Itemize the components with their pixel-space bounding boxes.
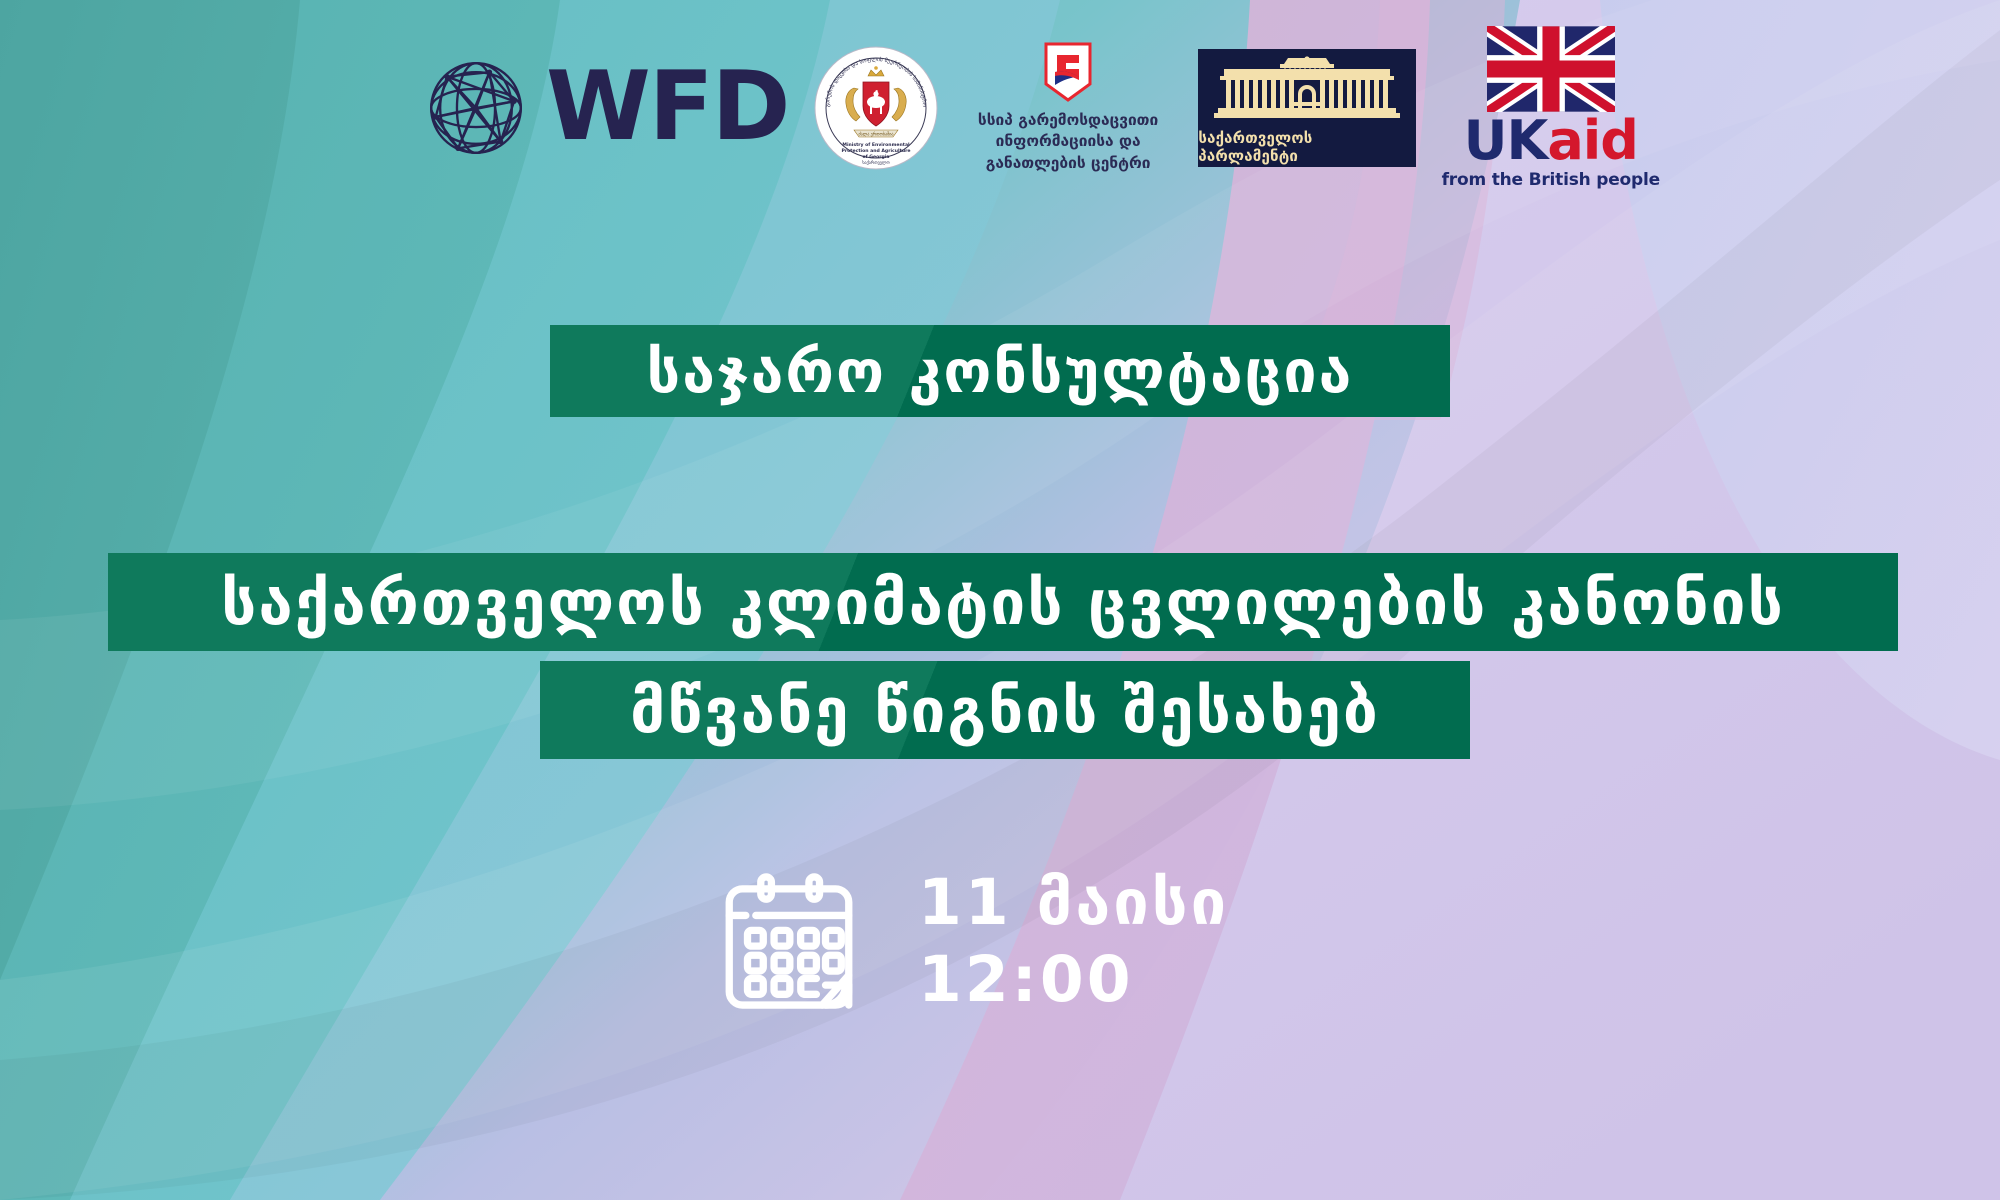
poster-canvas: WFD გარემოს დაცვისა და სოფლის მეურნეობის… [0, 0, 2000, 1200]
svg-text:Ministry of Environmental: Ministry of Environmental [842, 142, 910, 148]
union-jack-flag-icon [1487, 26, 1615, 112]
logo-parliament: საქართველოს პარლამენტი [1198, 49, 1416, 167]
calendar-icon [706, 858, 872, 1026]
partner-logo-row: WFD გარემოს დაცვისა და სოფლის მეურნეობის… [420, 30, 1660, 185]
wfd-wordmark: WFD [546, 60, 789, 155]
ukaid-aid: aid [1547, 109, 1638, 172]
kicker-text: საჯარო კონსულტაცია [647, 337, 1354, 406]
title-banner-line1: საქართველოს კლიმატის ცვლილების კანონის [108, 553, 1898, 651]
svg-text:საქართველო: საქართველო [862, 160, 890, 165]
event-datetime-block: 11 მაისი 12:00 [706, 858, 1229, 1026]
parliament-caption: საქართველოს პარლამენტი [1198, 129, 1416, 165]
book-shield-icon [1042, 41, 1094, 103]
logo-ministry-seal: გარემოს დაცვისა და სოფლის მეურნეობის სამ… [814, 46, 938, 170]
georgia-coat-of-arms-seal-icon: გარემოს დაცვისა და სოფლის მეურნეობის სამ… [814, 46, 938, 170]
title-text-line1: საქართველოს კლიმატის ცვლილების კანონის [221, 566, 1785, 639]
ukaid-wordmark: UKaid [1464, 114, 1638, 168]
eiec-line-1: სსიპ გარემოსდაცვითი [978, 110, 1158, 131]
eiec-line-3: განათლების ცენტრი [978, 153, 1158, 174]
logo-wfd: WFD [420, 52, 789, 164]
event-datetime-text: 11 მაისი 12:00 [918, 865, 1229, 1019]
globe-network-icon [420, 52, 532, 164]
eiec-caption: სსიპ გარემოსდაცვითი ინფორმაციისა და განა… [978, 110, 1158, 174]
event-date: 11 მაისი [918, 865, 1229, 942]
event-time: 12:00 [918, 942, 1229, 1019]
kicker-banner: საჯარო კონსულტაცია [550, 325, 1450, 417]
logo-eiec: სსიპ გარემოსდაცვითი ინფორმაციისა და განა… [963, 41, 1173, 174]
ukaid-tagline: from the British people [1442, 170, 1660, 190]
parliament-building-icon [1214, 50, 1400, 126]
svg-text:ძალა ერთობაშია: ძალა ერთობაშია [858, 131, 893, 136]
logo-ukaid: UKaid from the British people [1442, 26, 1660, 190]
title-banner-line2: მწვანე წიგნის შესახებ [540, 661, 1470, 759]
svg-text:Protection and Agriculture: Protection and Agriculture [841, 148, 910, 154]
ukaid-uk: UK [1464, 109, 1548, 172]
eiec-line-2: ინფორმაციისა და [978, 131, 1158, 152]
title-text-line2: მწვანე წიგნის შესახებ [630, 674, 1380, 747]
